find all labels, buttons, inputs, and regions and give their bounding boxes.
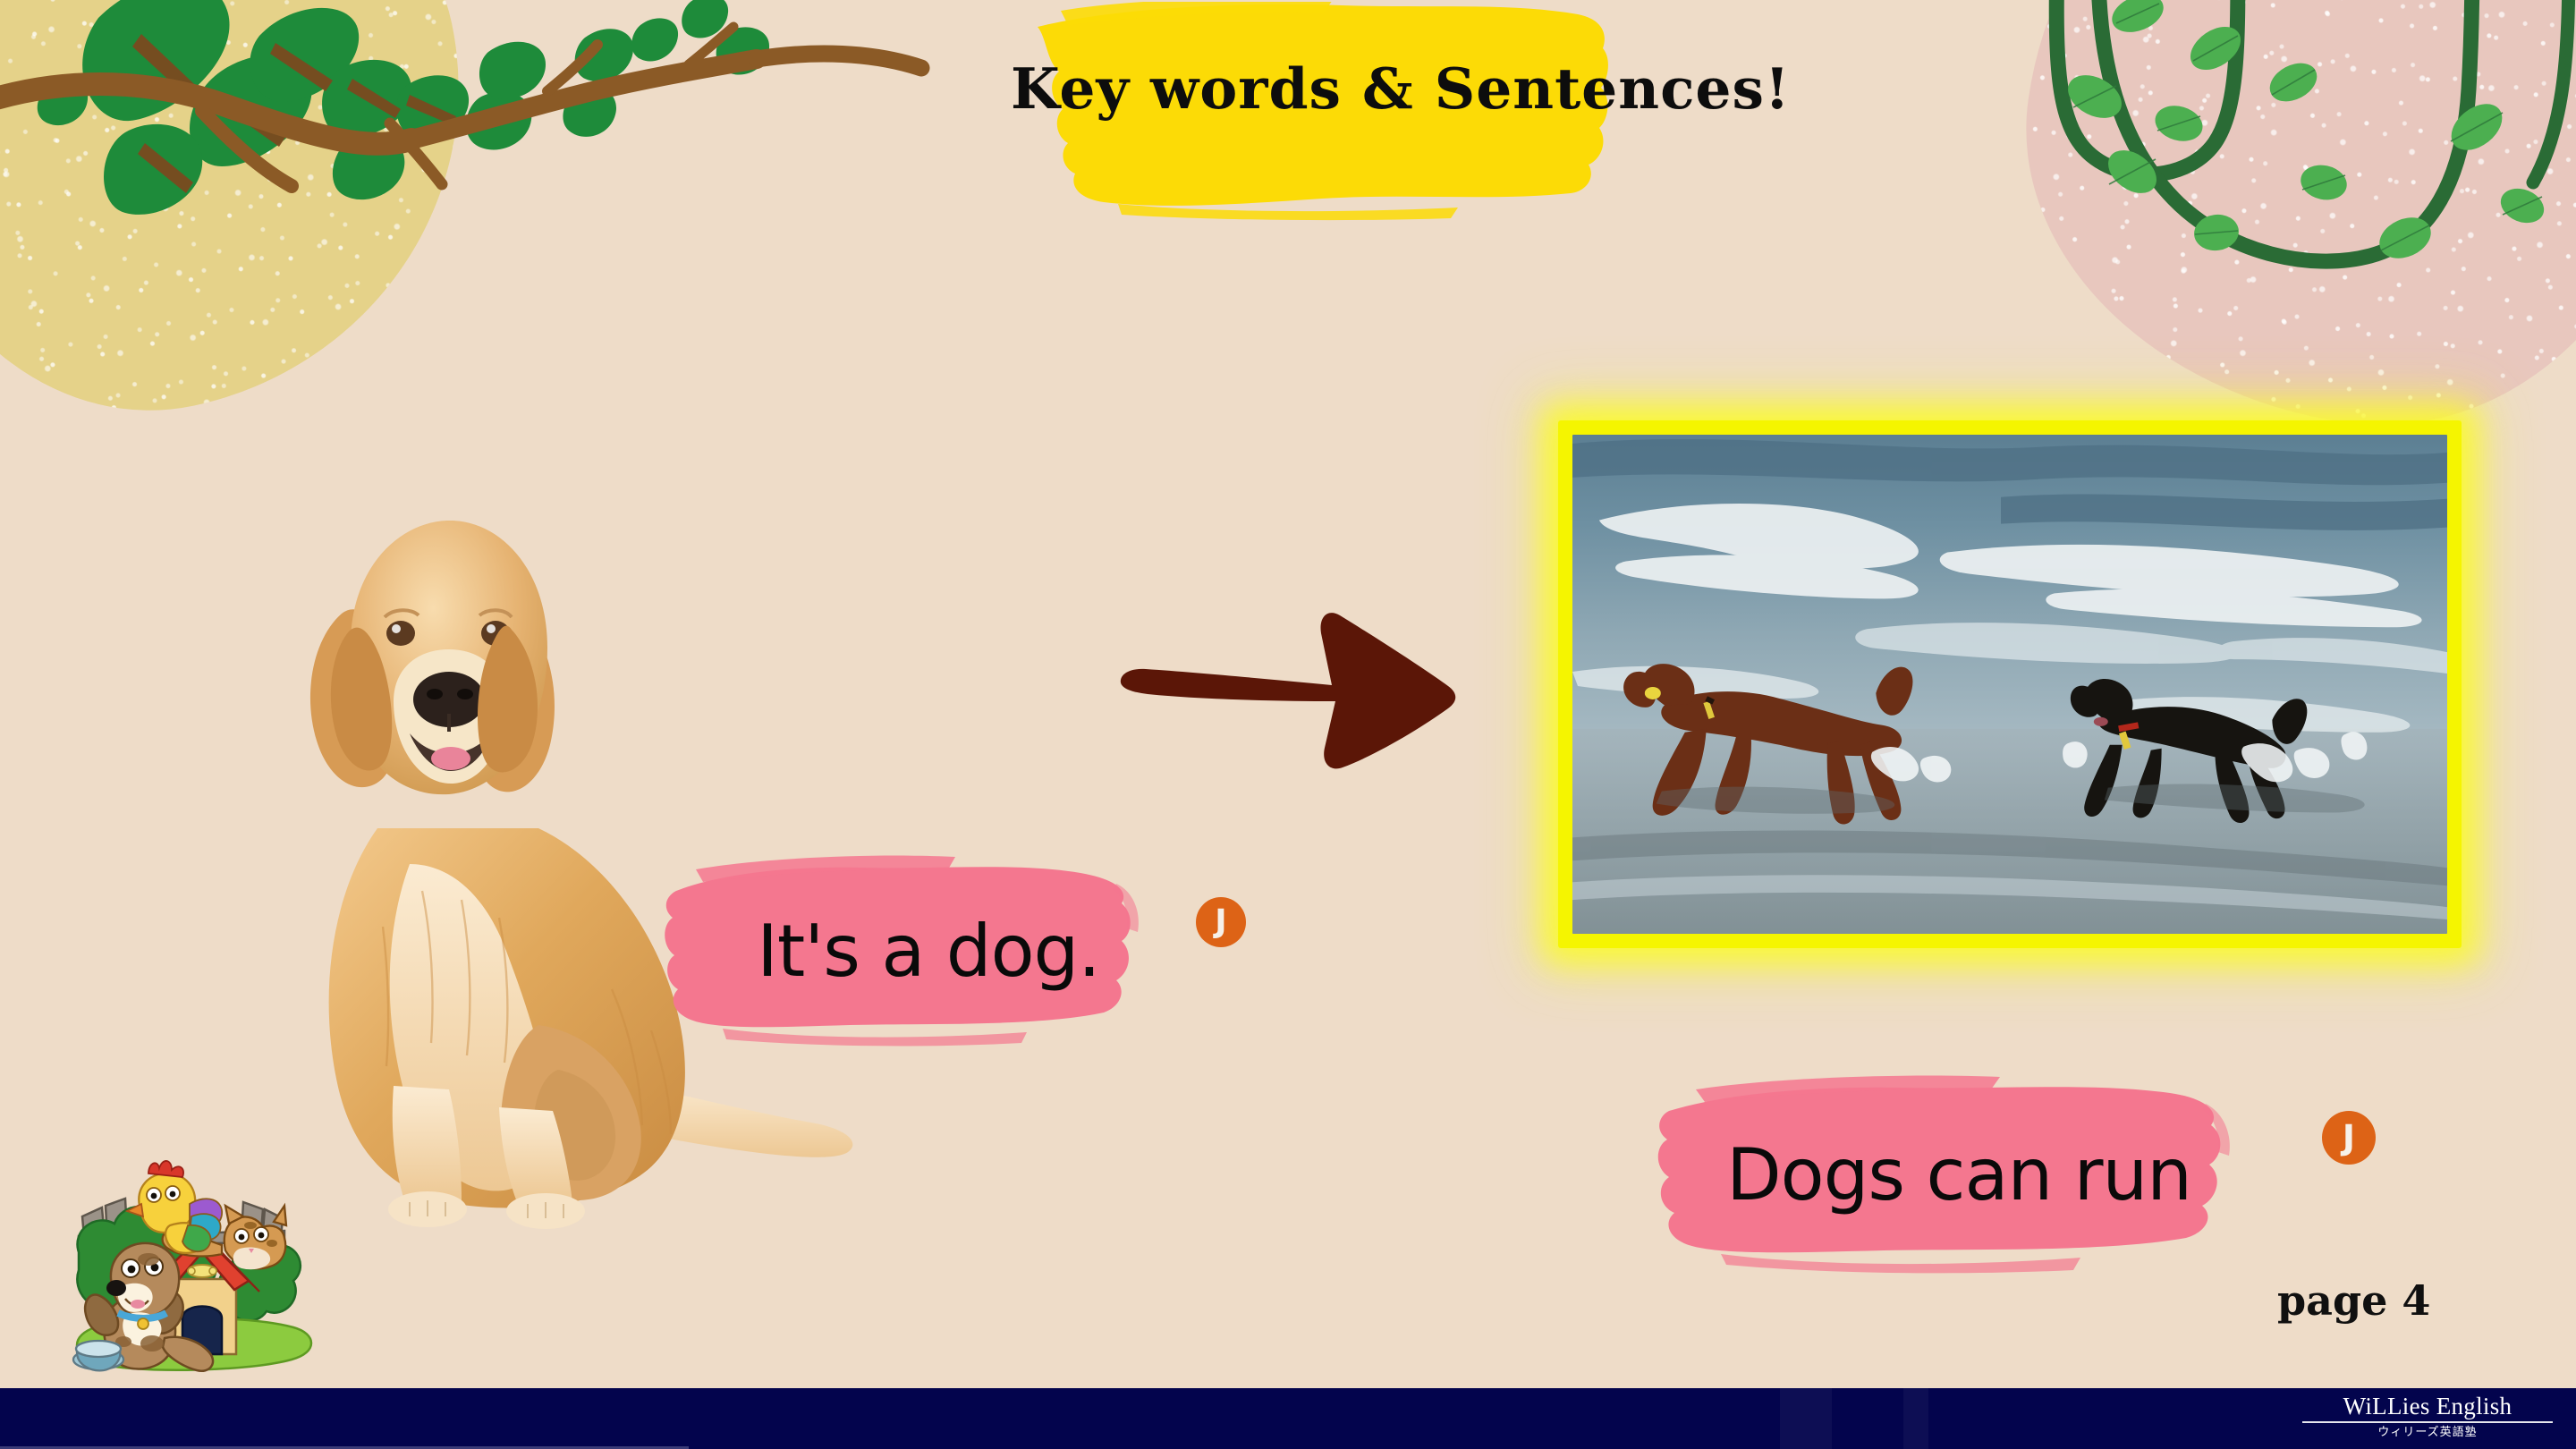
page-number: page 4 [2277, 1276, 2430, 1325]
sentence-text-2: Dogs can run [1646, 1072, 2272, 1277]
brand-divider [2302, 1421, 2553, 1423]
footer-band-a [1780, 1388, 1832, 1449]
beach-photo-frame [1558, 420, 2462, 948]
footer-bar: WiLLies English ウィリーズ英語塾 [0, 1388, 2576, 1449]
footer-band-b [1903, 1388, 1928, 1449]
brand-logo: WiLLies English ウィリーズ英語塾 [2295, 1392, 2560, 1439]
audio-badge-2[interactable]: J [2322, 1111, 2376, 1165]
page-title-text: Key words & Sentences! [1011, 55, 1690, 122]
pets-and-doghouse-clipart [55, 1154, 342, 1392]
leafy-branch-icon [0, 0, 957, 277]
sentence-box-1: It's a dog. [660, 848, 1197, 1054]
page-title: Key words & Sentences! [1011, 2, 1690, 225]
right-arrow-icon [1114, 601, 1462, 771]
hanging-vine-icon [1986, 0, 2576, 349]
brand-subtitle: ウィリーズ英語塾 [2295, 1426, 2560, 1439]
brand-name: WiLLies English [2295, 1392, 2560, 1420]
dogs-running-on-beach-photo [1572, 435, 2447, 934]
sentence-box-2: Dogs can run [1646, 1072, 2272, 1277]
slide-canvas: Key words & Sentences! [0, 0, 2576, 1449]
audio-badge-1[interactable]: J [1196, 897, 1246, 947]
sentence-text-1: It's a dog. [660, 848, 1220, 1054]
